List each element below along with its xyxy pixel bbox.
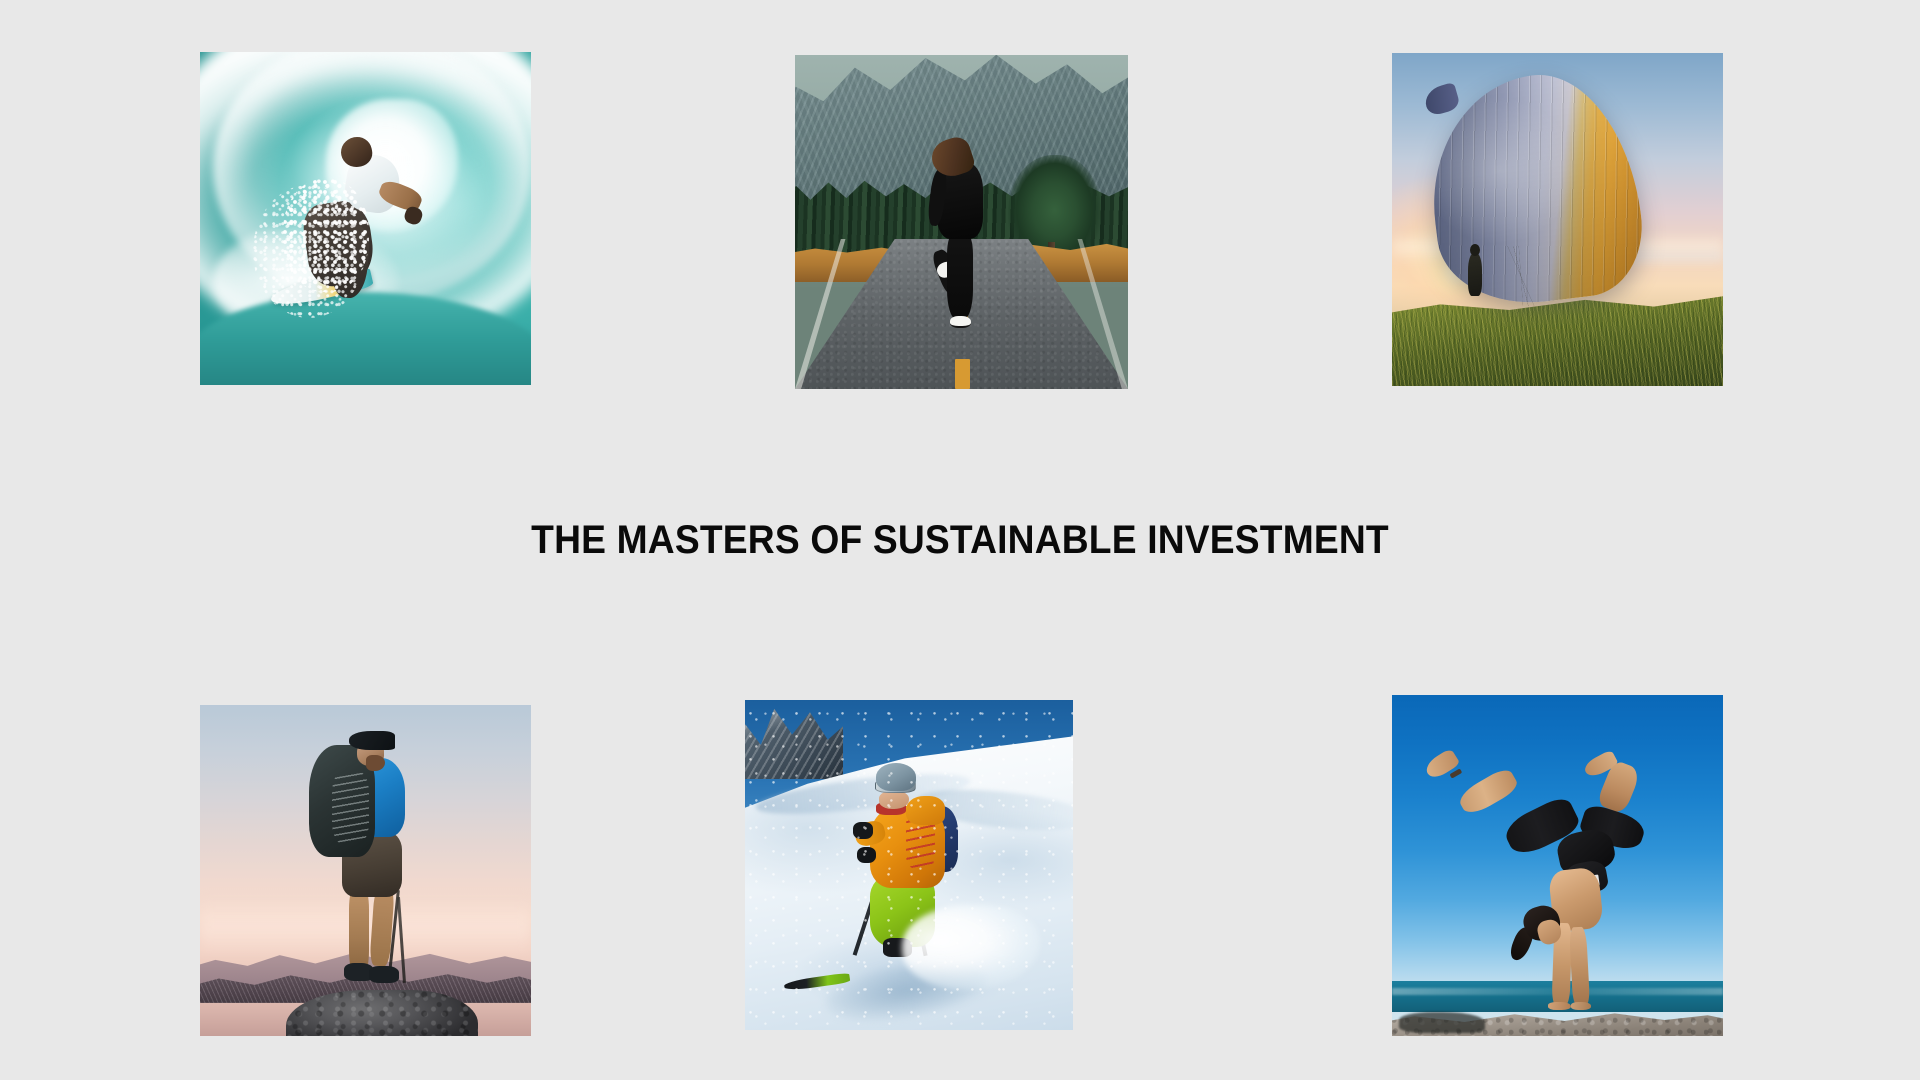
hiking-photo [200, 705, 531, 1036]
gallery-image-skiing[interactable] [745, 700, 1073, 1030]
hiker-leg-left [349, 887, 369, 973]
paraglider-lines [1478, 246, 1564, 306]
gallery-image-surfing[interactable] [200, 52, 531, 385]
gallery-image-running[interactable] [795, 55, 1128, 389]
running-photo [795, 55, 1128, 389]
skiing-photo [745, 700, 1073, 1030]
center-line-dash-near [955, 359, 970, 389]
runner-legs [947, 232, 974, 319]
water-spray [253, 185, 366, 318]
yogi-hand-right [1571, 1002, 1591, 1010]
hiker-boot-right [369, 966, 399, 983]
gallery-image-yoga[interactable] [1392, 695, 1723, 1036]
paragliding-photo [1392, 53, 1723, 386]
page-title: THE MASTERS OF SUSTAINABLE INVESTMENT [67, 518, 1853, 562]
runner-front-shoe [950, 316, 971, 329]
page-root: THE MASTERS OF SUSTAINABLE INVESTMENT [0, 0, 1920, 1080]
yogi-hand-left [1548, 1002, 1571, 1011]
yoga-photo [1392, 695, 1723, 1036]
backpack-straps [332, 771, 368, 844]
surfing-photo [200, 52, 531, 385]
pilot-body [1468, 253, 1482, 296]
snow-sparkle [745, 700, 1073, 1030]
gallery-image-hiking[interactable] [200, 705, 531, 1036]
rock-shadow [1399, 1012, 1485, 1032]
gallery-image-paragliding[interactable] [1392, 53, 1723, 386]
hiker-cap [349, 731, 395, 749]
